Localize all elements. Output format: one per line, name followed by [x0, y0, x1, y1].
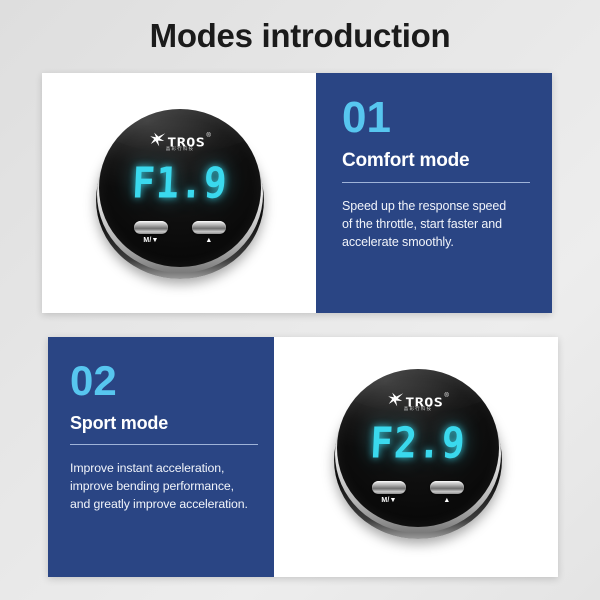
- mode-card-comfort: TROS® 晶彩行科技 F1.9 M/▼ ▲: [42, 73, 552, 313]
- mode-number: 02: [70, 357, 258, 405]
- mode-text-panel: 02 Sport mode Improve instant accelerati…: [48, 337, 274, 577]
- infographic-page: Modes introduction TROS® 晶彩行科技: [0, 0, 600, 600]
- device-face: TROS® 晶彩行科技 F2.9 M/▼ ▲: [337, 369, 499, 527]
- device-image-panel: TROS® 晶彩行科技 F1.9 M/▼ ▲: [42, 73, 316, 313]
- mode-description: Speed up the response speed of the throt…: [342, 197, 530, 251]
- mode-down-button-cap[interactable]: [372, 481, 406, 494]
- mode-title: Sport mode: [70, 411, 258, 435]
- led-display: F2.9: [337, 418, 499, 467]
- mode-down-button-label: M/▼: [133, 236, 169, 246]
- mode-description-line: and greatly improve acceleration.: [70, 495, 258, 513]
- mode-number: 01: [342, 93, 530, 143]
- mode-description-line: Speed up the response speed: [342, 197, 530, 215]
- up-button-cap[interactable]: [192, 221, 226, 234]
- up-button[interactable]: ▲: [429, 481, 465, 506]
- up-button-cap[interactable]: [430, 481, 464, 494]
- registered-mark-icon: ®: [444, 393, 448, 399]
- mode-description-line: Improve instant acceleration,: [70, 459, 258, 477]
- mode-down-button-label: M/▼: [371, 496, 407, 506]
- up-button[interactable]: ▲: [191, 221, 227, 246]
- mode-down-button[interactable]: M/▼: [371, 481, 407, 506]
- registered-mark-icon: ®: [206, 133, 210, 139]
- mode-card-sport: 02 Sport mode Improve instant accelerati…: [48, 337, 558, 577]
- divider: [342, 182, 530, 183]
- device-button-row: M/▼ ▲: [99, 221, 261, 246]
- up-button-label: ▲: [191, 236, 227, 246]
- device-face: TROS® 晶彩行科技 F1.9 M/▼ ▲: [99, 109, 261, 267]
- mode-down-button-cap[interactable]: [134, 221, 168, 234]
- mode-description-line: of the throttle, start faster and: [342, 215, 530, 233]
- mode-description-line: accelerate smoothly.: [342, 233, 530, 251]
- mode-title: Comfort mode: [342, 149, 530, 173]
- mode-description-line: improve bending performance,: [70, 477, 258, 495]
- brand-subtext: 晶彩行科技: [337, 406, 499, 412]
- device-image-panel: TROS® 晶彩行科技 F2.9 M/▼ ▲: [274, 337, 558, 577]
- page-title: Modes introduction: [0, 16, 600, 56]
- up-button-label: ▲: [429, 496, 465, 506]
- device-button-row: M/▼ ▲: [337, 481, 499, 506]
- led-display: F1.9: [99, 158, 261, 207]
- throttle-controller-device: TROS® 晶彩行科技 F1.9 M/▼ ▲: [94, 107, 266, 279]
- brand-subtext: 晶彩行科技: [99, 146, 261, 152]
- throttle-controller-device: TROS® 晶彩行科技 F2.9 M/▼ ▲: [332, 367, 502, 537]
- mode-text-panel: 01 Comfort mode Speed up the response sp…: [316, 73, 552, 313]
- mode-description: Improve instant acceleration, improve be…: [70, 459, 258, 513]
- divider: [70, 444, 258, 445]
- mode-down-button[interactable]: M/▼: [133, 221, 169, 246]
